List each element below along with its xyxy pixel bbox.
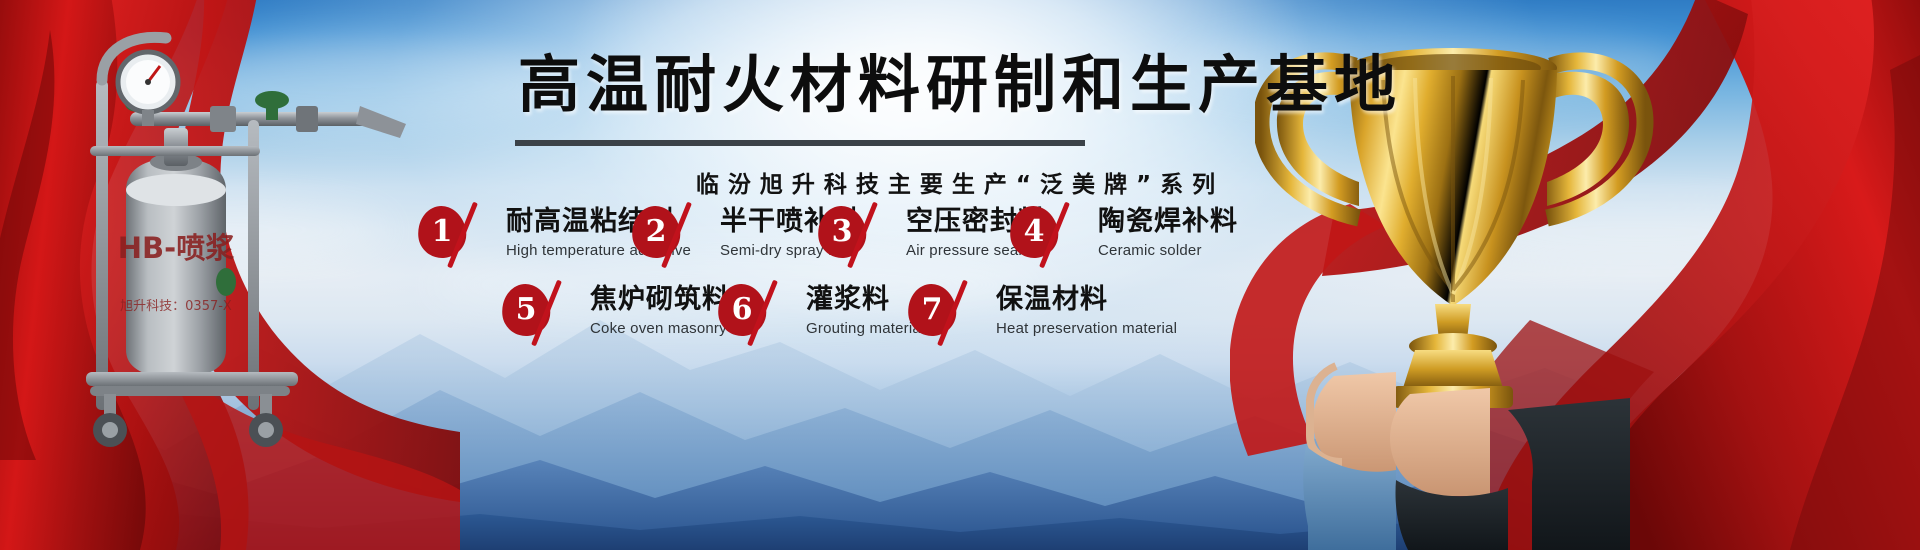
title-divider (515, 140, 1085, 146)
product-item-4[interactable]: 4 陶瓷焊补料 Ceramic solder (1010, 206, 1238, 260)
product-name-en: Grouting material (806, 320, 924, 337)
subtitle-text: 临汾旭升科技主要生产“泛美牌”系列 (696, 165, 1224, 199)
product-name-cn: 灌浆料 (806, 284, 924, 315)
product-text: 灌浆料 Grouting material (806, 284, 924, 337)
subtitle-container: 临汾旭升科技主要生产“泛美牌”系列 (0, 165, 1920, 199)
product-name-en: Heat preservation material (996, 320, 1177, 337)
number-badge: 6 (718, 284, 772, 338)
number-badge: 5 (502, 284, 556, 338)
product-text: 焦炉砌筑料 Coke oven masonry (590, 284, 730, 337)
product-name-en: Ceramic solder (1098, 242, 1238, 259)
product-name-cn: 陶瓷焊补料 (1098, 206, 1238, 237)
product-name-cn: 焦炉砌筑料 (590, 284, 730, 315)
product-name-en: Coke oven masonry (590, 320, 730, 337)
equipment-label-sub: 旭升科技：0357-X (120, 299, 232, 314)
product-item-6[interactable]: 6 灌浆料 Grouting material (718, 284, 924, 338)
product-item-5[interactable]: 5 焦炉砌筑料 Coke oven masonry (502, 284, 730, 338)
product-name-cn: 保温材料 (996, 284, 1177, 315)
number-badge: 4 (1010, 206, 1064, 260)
headline-container: 高温耐火材料研制和生产基地 (0, 52, 1920, 119)
number-badge: 3 (818, 206, 872, 260)
hands-holding-trophy (1300, 350, 1630, 550)
promo-banner: HB-喷浆 旭升科技：0357-X 高温耐火材料研制和 (0, 0, 1920, 550)
equipment-label-main: HB-喷浆 (118, 231, 235, 265)
product-item-7[interactable]: 7 保温材料 Heat preservation material (908, 284, 1177, 338)
number-badge: 7 (908, 284, 962, 338)
page-title: 高温耐火材料研制和生产基地 (518, 52, 1402, 119)
product-text: 陶瓷焊补料 Ceramic solder (1098, 206, 1238, 259)
number-badge: 1 (418, 206, 472, 260)
number-badge: 2 (632, 206, 686, 260)
product-text: 保温材料 Heat preservation material (996, 284, 1177, 337)
